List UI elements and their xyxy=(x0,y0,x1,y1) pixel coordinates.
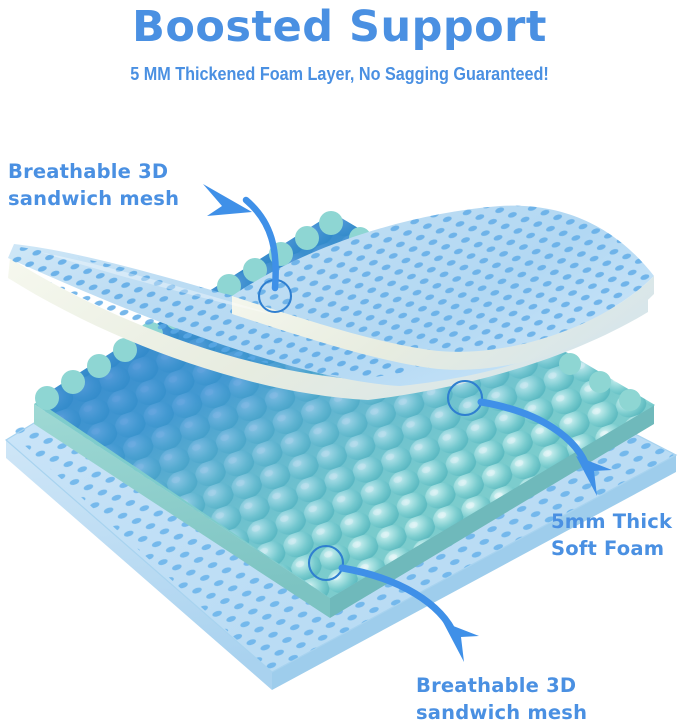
arrow-head-bottom-mesh xyxy=(443,622,479,662)
callout-label-bottom-mesh: Breathable 3D sandwich mesh xyxy=(416,672,587,726)
page-subtitle: 5 MM Thickened Foam Layer, No Sagging Gu… xyxy=(34,62,645,86)
infographic-canvas: Boosted Support 5 MM Thickened Foam Laye… xyxy=(0,0,679,727)
page-title: Boosted Support xyxy=(0,2,679,52)
mattress-layers-illustration xyxy=(0,0,679,727)
callout-label-soft-foam: 5mm Thick Soft Foam xyxy=(551,508,672,562)
callout-label-top-mesh: Breathable 3D sandwich mesh xyxy=(8,158,179,212)
